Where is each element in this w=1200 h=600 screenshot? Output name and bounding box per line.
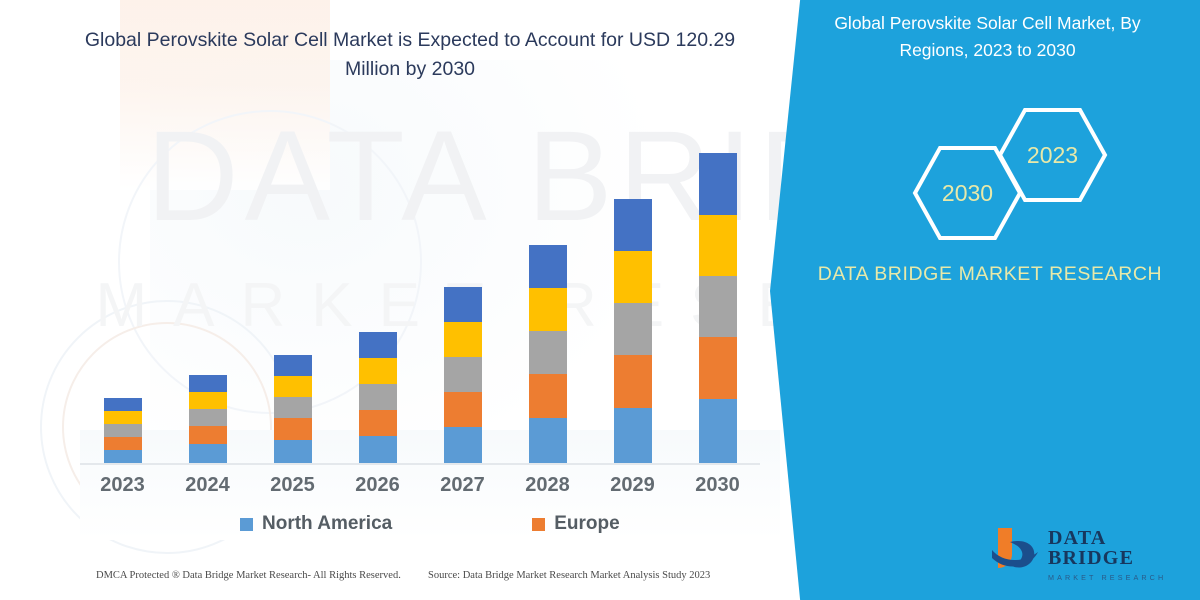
data-bridge-logo: DATA BRIDGE MARKET RESEARCH — [988, 520, 1188, 582]
x-axis-tick: 2029 — [590, 474, 675, 502]
x-axis-tick: 2026 — [335, 474, 420, 502]
bar-segment — [699, 276, 737, 337]
bar-segment — [699, 153, 737, 215]
legend-label-europe: Europe — [554, 513, 619, 535]
footer: DMCA Protected ® Data Bridge Market Rese… — [0, 566, 800, 590]
logo-text: DATA BRIDGE MARKET RESEARCH — [1048, 528, 1188, 582]
stacked-bar[interactable] — [529, 245, 567, 463]
legend-label-north-america: North America — [262, 513, 392, 535]
stacked-bar[interactable] — [699, 153, 737, 463]
bar-slot — [590, 199, 675, 463]
bar-segment — [444, 392, 482, 427]
bar-segment — [529, 374, 567, 418]
x-axis-tick: 2030 — [675, 474, 760, 502]
footer-dmca-text: DMCA Protected ® Data Bridge Market Rese… — [96, 570, 401, 581]
bar-segment — [614, 355, 652, 408]
bar-segment — [529, 288, 567, 331]
stacked-bar[interactable] — [104, 398, 142, 463]
bar-segment — [274, 440, 312, 463]
bar-segment — [359, 410, 397, 436]
bar-segment — [104, 398, 142, 411]
bar-segment — [189, 426, 227, 444]
x-axis-labels: 20232024202520262027202820292030 — [80, 474, 760, 502]
legend-swatch-north-america — [240, 518, 253, 531]
bar-segment — [274, 418, 312, 440]
chart-plot-area — [80, 120, 760, 465]
legend-item-europe[interactable]: Europe — [532, 513, 619, 535]
bar-segment — [614, 251, 652, 303]
bar-segment — [104, 424, 142, 437]
bar-segment — [189, 409, 227, 426]
bar-segment — [699, 337, 737, 399]
stacked-bar[interactable] — [274, 355, 312, 463]
bar-segment — [529, 245, 567, 288]
bar-segment — [444, 357, 482, 392]
bar-segment — [274, 397, 312, 418]
x-axis-tick: 2024 — [165, 474, 250, 502]
bar-segment — [104, 411, 142, 424]
bar-segment — [359, 384, 397, 410]
bar-segment — [614, 199, 652, 251]
bar-segment — [274, 355, 312, 376]
x-axis-tick: 2025 — [250, 474, 335, 502]
bar-slot — [335, 332, 420, 463]
bar-slot — [420, 287, 505, 463]
stacked-bar[interactable] — [359, 332, 397, 463]
bar-slot — [505, 245, 590, 463]
bar-segment — [444, 427, 482, 463]
x-axis-tick: 2027 — [420, 474, 505, 502]
logo-tagline: MARKET RESEARCH — [1048, 573, 1188, 582]
chart-legend: North America Europe — [80, 508, 760, 540]
x-axis-line — [80, 463, 760, 465]
bar-segment — [189, 392, 227, 409]
bar-slot — [675, 153, 760, 463]
logo-name: DATA BRIDGE — [1048, 528, 1188, 568]
footer-source-text: Source: Data Bridge Market Research Mark… — [428, 570, 710, 581]
legend-item-north-america[interactable]: North America — [240, 513, 392, 535]
stacked-bar[interactable] — [614, 199, 652, 463]
bar-segment — [699, 399, 737, 463]
bar-slot — [80, 398, 165, 463]
bar-segment — [529, 418, 567, 463]
bar-segment — [359, 358, 397, 384]
x-axis-tick: 2023 — [80, 474, 165, 502]
bar-segment — [529, 331, 567, 374]
bar-segment — [359, 332, 397, 358]
x-axis-tick: 2028 — [505, 474, 590, 502]
legend-swatch-europe — [532, 518, 545, 531]
stacked-bar[interactable] — [189, 375, 227, 463]
bar-segment — [614, 303, 652, 355]
bar-segment — [104, 437, 142, 450]
bar-segment — [699, 215, 737, 276]
bar-slot — [165, 375, 250, 463]
infographic-root: DATA BRIDGE MARKET RESEARCH Global Perov… — [0, 0, 1200, 600]
logo-mark-icon — [988, 524, 1044, 576]
bar-segment — [614, 408, 652, 463]
bar-segment — [444, 287, 482, 322]
bar-segment — [444, 322, 482, 357]
bar-slot — [250, 355, 335, 463]
bar-segment — [359, 436, 397, 463]
bar-segment — [189, 375, 227, 392]
bar-segment — [274, 376, 312, 397]
chart-title: Global Perovskite Solar Cell Market is E… — [60, 26, 760, 85]
stacked-bar[interactable] — [444, 287, 482, 463]
bar-segment — [104, 450, 142, 463]
bar-group — [80, 123, 760, 463]
bar-segment — [189, 444, 227, 463]
